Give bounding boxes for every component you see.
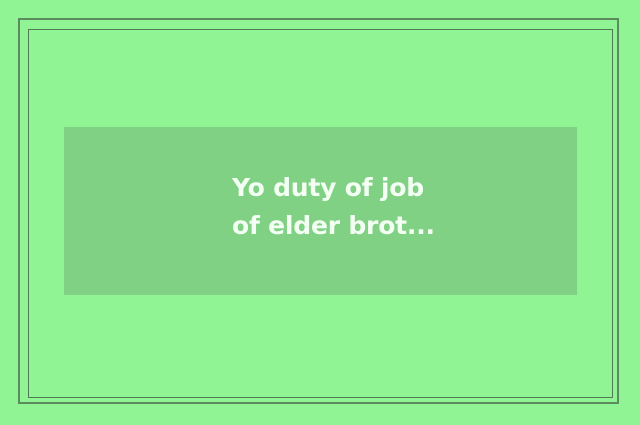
screen-canvas: Yo duty of job of elder brot... bbox=[0, 0, 640, 425]
content-panel: Yo duty of job of elder brot... bbox=[64, 127, 577, 295]
quote-text-block: Yo duty of job of elder brot... bbox=[232, 169, 532, 245]
quote-line-1: Yo duty of job bbox=[232, 169, 532, 207]
quote-line-2: of elder brot... bbox=[232, 207, 532, 245]
